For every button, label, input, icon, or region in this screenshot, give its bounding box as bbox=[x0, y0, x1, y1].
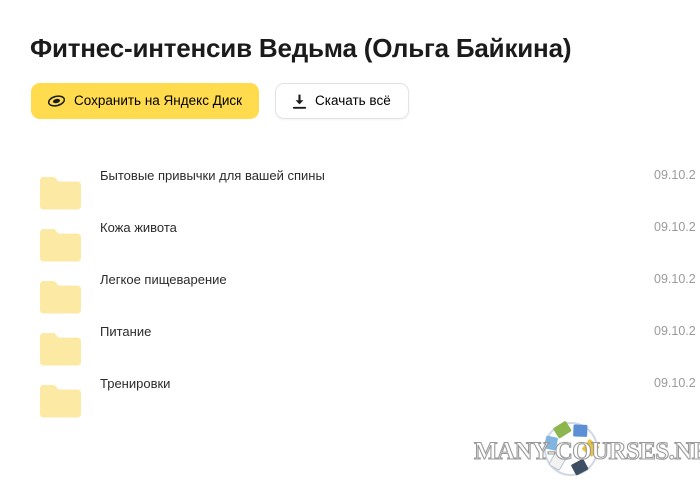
file-name: Легкое пищеварение bbox=[100, 272, 227, 287]
toolbar: Сохранить на Яндекс Диск Скачать всё bbox=[31, 83, 409, 119]
file-row[interactable]: Тренировки 09.10.2 bbox=[0, 357, 700, 409]
file-name: Кожа живота bbox=[100, 220, 177, 235]
file-name: Тренировки bbox=[100, 376, 170, 391]
save-to-yandex-disk-button[interactable]: Сохранить на Яндекс Диск bbox=[31, 83, 259, 119]
file-name: Бытовые привычки для вашей спины bbox=[100, 168, 325, 183]
watermark: MANY-COURSES.NET bbox=[474, 416, 700, 482]
file-row[interactable]: Легкое пищеварение 09.10.2 bbox=[0, 253, 700, 305]
file-row[interactable]: Кожа живота 09.10.2 bbox=[0, 201, 700, 253]
yandex-disk-icon bbox=[48, 95, 65, 107]
page-root: Фитнес-интенсив Ведьма (Ольга Байкина) С… bbox=[0, 0, 700, 485]
file-date: 09.10.2 bbox=[654, 376, 696, 390]
save-to-yandex-disk-label: Сохранить на Яндекс Диск bbox=[74, 94, 242, 108]
download-all-label: Скачать всё bbox=[315, 94, 391, 108]
file-list: Бытовые привычки для вашей спины 09.10.2… bbox=[0, 149, 700, 409]
file-date: 09.10.2 bbox=[654, 272, 696, 286]
file-row[interactable]: Бытовые привычки для вашей спины 09.10.2 bbox=[0, 149, 700, 201]
file-date: 09.10.2 bbox=[654, 168, 696, 182]
download-icon bbox=[293, 94, 306, 109]
download-all-button[interactable]: Скачать всё bbox=[275, 83, 409, 119]
file-name: Питание bbox=[100, 324, 151, 339]
file-row[interactable]: Питание 09.10.2 bbox=[0, 305, 700, 357]
page-title: Фитнес-интенсив Ведьма (Ольга Байкина) bbox=[30, 33, 571, 64]
file-date: 09.10.2 bbox=[654, 220, 696, 234]
watermark-text: MANY-COURSES.NET bbox=[474, 438, 700, 466]
file-date: 09.10.2 bbox=[654, 324, 696, 338]
